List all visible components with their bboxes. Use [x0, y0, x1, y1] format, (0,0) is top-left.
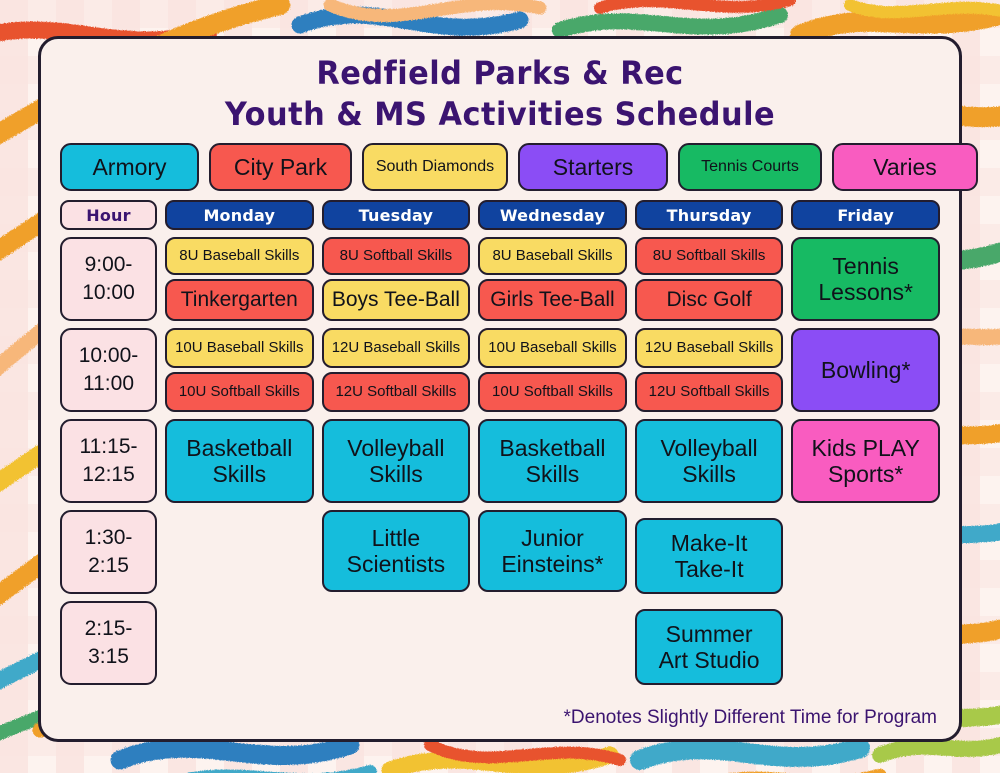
activity-label: 10U Softball Skills — [492, 383, 613, 400]
schedule-row: 2:15-3:15SummerArt Studio — [60, 601, 940, 685]
activity-label: Tennis Lessons* — [796, 253, 935, 306]
schedule-row: 10:00-11:0010U Baseball Skills10U Softba… — [60, 328, 940, 412]
time-slot-line-2: 12:15 — [82, 461, 135, 489]
activity-block[interactable]: 10U Baseball Skills — [165, 328, 314, 368]
day-cell-wednesday: 10U Baseball Skills10U Softball Skills — [478, 328, 627, 412]
activity-block[interactable]: Kids PLAYSports* — [791, 419, 940, 503]
activity-block[interactable]: BasketballSkills — [478, 419, 627, 503]
activity-label: Boys Tee-Ball — [332, 288, 460, 312]
legend-chip-label: South Diamonds — [376, 158, 494, 176]
activity-block[interactable]: VolleyballSkills — [322, 419, 471, 503]
activity-block[interactable]: 8U Softball Skills — [322, 237, 471, 275]
schedule-row: 9:00-10:008U Baseball SkillsTinkergarten… — [60, 237, 940, 321]
activity-label: Girls Tee-Ball — [490, 288, 614, 312]
activity-block[interactable]: 8U Baseball Skills — [165, 237, 314, 275]
day-cell-monday — [165, 601, 314, 685]
day-cell-wednesday: BasketballSkills — [478, 419, 627, 503]
column-header-hour: Hour — [60, 200, 157, 230]
activity-label-line: Junior — [521, 525, 584, 551]
time-slot-cell: 2:15-3:15 — [60, 601, 157, 685]
day-cell-thursday: SummerArt Studio — [635, 601, 784, 685]
day-cell-friday — [791, 510, 940, 594]
activity-label-line: Skills — [212, 461, 266, 487]
activity-label-line: Einsteins* — [501, 551, 603, 577]
day-cell-wednesday — [478, 601, 627, 685]
day-cell-friday: Kids PLAYSports* — [791, 419, 940, 503]
activity-block[interactable]: 12U Softball Skills — [322, 372, 471, 412]
activity-block[interactable]: 10U Baseball Skills — [478, 328, 627, 368]
legend-chip-tennis-courts[interactable]: Tennis Courts — [678, 143, 822, 191]
time-slot-cell: 9:00-10:00 — [60, 237, 157, 321]
activity-label: Tinkergarten — [181, 288, 298, 312]
activity-label: 12U Softball Skills — [335, 383, 456, 400]
activity-label: 12U Baseball Skills — [332, 339, 460, 356]
day-cell-monday: 8U Baseball SkillsTinkergarten — [165, 237, 314, 321]
activity-label-line: Little — [372, 525, 421, 551]
schedule-row: 1:30-2:15LittleScientistsJuniorEinsteins… — [60, 510, 940, 594]
day-cell-tuesday: VolleyballSkills — [322, 419, 471, 503]
activity-label-line: Kids PLAY — [812, 435, 920, 461]
activity-label-line: Basketball — [186, 435, 292, 461]
legend-chip-starters[interactable]: Starters — [518, 143, 668, 191]
activity-block[interactable]: Disc Golf — [635, 279, 784, 321]
activity-label: 8U Baseball Skills — [179, 247, 299, 264]
legend-chip-armory[interactable]: Armory — [60, 143, 199, 191]
time-slot-line-2: 2:15 — [88, 552, 129, 580]
location-legend: ArmoryCity ParkSouth DiamondsStartersTen… — [41, 135, 959, 191]
legend-chip-city-park[interactable]: City Park — [209, 143, 352, 191]
activity-label: 10U Softball Skills — [179, 383, 300, 400]
activity-block[interactable]: 12U Baseball Skills — [635, 328, 784, 368]
page-title-line-1: Redfield Parks & Rec — [64, 53, 936, 93]
activity-block[interactable]: 8U Baseball Skills — [478, 237, 627, 275]
time-slot-cell: 1:30-2:15 — [60, 510, 157, 594]
activity-block[interactable]: 10U Softball Skills — [165, 372, 314, 412]
activity-block[interactable]: 12U Baseball Skills — [322, 328, 471, 368]
activity-block[interactable]: SummerArt Studio — [635, 609, 784, 685]
day-cell-tuesday: LittleScientists — [322, 510, 471, 594]
time-slot-line-1: 2:15- — [85, 615, 133, 643]
activity-label-line: Skills — [526, 461, 580, 487]
time-slot-cell: 10:00-11:00 — [60, 328, 157, 412]
activity-block[interactable]: Bowling* — [791, 328, 940, 412]
activity-block[interactable]: VolleyballSkills — [635, 419, 784, 503]
activity-block[interactable]: Girls Tee-Ball — [478, 279, 627, 321]
title-block: Redfield Parks & Rec Youth & MS Activiti… — [41, 39, 959, 135]
day-cell-tuesday — [322, 601, 471, 685]
day-cell-wednesday: 8U Baseball SkillsGirls Tee-Ball — [478, 237, 627, 321]
column-header-monday: Monday — [165, 200, 314, 230]
activity-label-line: Scientists — [347, 551, 445, 577]
footnote: *Denotes Slightly Different Time for Pro… — [564, 707, 937, 729]
activity-label: 8U Softball Skills — [340, 247, 453, 264]
day-cell-friday — [791, 601, 940, 685]
legend-chip-label: Tennis Courts — [701, 158, 799, 176]
day-cell-thursday: Make-ItTake-It — [635, 510, 784, 594]
legend-chip-label: Armory — [92, 154, 166, 181]
activity-label-line: Summer — [666, 621, 753, 647]
activity-label-line: Skills — [682, 461, 736, 487]
schedule-row: 11:15-12:15BasketballSkillsVolleyballSki… — [60, 419, 940, 503]
activity-block[interactable]: BasketballSkills — [165, 419, 314, 503]
activity-label: Bowling* — [821, 357, 911, 383]
column-header-friday: Friday — [791, 200, 940, 230]
activity-label-line: Basketball — [499, 435, 605, 461]
time-slot-line-1: 11:15- — [80, 433, 138, 461]
activity-label: 10U Baseball Skills — [175, 339, 303, 356]
legend-chip-label: Varies — [873, 154, 937, 181]
activity-block[interactable]: Make-ItTake-It — [635, 518, 784, 594]
column-header-wednesday: Wednesday — [478, 200, 627, 230]
activity-block[interactable]: Boys Tee-Ball — [322, 279, 471, 321]
activity-label: 12U Baseball Skills — [645, 339, 773, 356]
time-slot-cell: 11:15-12:15 — [60, 419, 157, 503]
activity-label-line: Sports* — [828, 461, 903, 487]
day-cell-thursday: 12U Baseball Skills12U Softball Skills — [635, 328, 784, 412]
legend-chip-label: City Park — [234, 154, 327, 181]
page-title-line-2: Youth & MS Activities Schedule — [64, 93, 936, 135]
activity-label: 12U Softball Skills — [649, 383, 770, 400]
time-slot-line-2: 3:15 — [88, 643, 129, 671]
activity-label-line: Make-It — [671, 530, 748, 556]
time-slot-line-1: 1:30- — [85, 524, 133, 552]
activity-block[interactable]: Tennis Lessons* — [791, 237, 940, 321]
schedule-body: 9:00-10:008U Baseball SkillsTinkergarten… — [60, 237, 940, 685]
day-cell-tuesday: 8U Softball SkillsBoys Tee-Ball — [322, 237, 471, 321]
day-cell-monday — [165, 510, 314, 594]
column-header-tuesday: Tuesday — [322, 200, 471, 230]
activity-block[interactable]: Tinkergarten — [165, 279, 314, 321]
day-cell-wednesday: JuniorEinsteins* — [478, 510, 627, 594]
day-cell-friday: Bowling* — [791, 328, 940, 412]
legend-chip-label: Starters — [553, 154, 634, 181]
activity-block[interactable]: 12U Softball Skills — [635, 372, 784, 412]
time-slot-line-1: 10:00- — [79, 342, 139, 370]
day-cell-monday: BasketballSkills — [165, 419, 314, 503]
day-cell-monday: 10U Baseball Skills10U Softball Skills — [165, 328, 314, 412]
activity-label: 8U Softball Skills — [653, 247, 766, 264]
schedule-card: Redfield Parks & Rec Youth & MS Activiti… — [38, 36, 962, 742]
activity-label: Disc Golf — [666, 288, 751, 312]
day-cell-thursday: 8U Softball SkillsDisc Golf — [635, 237, 784, 321]
schedule-grid: HourMondayTuesdayWednesdayThursdayFriday… — [41, 191, 959, 685]
schedule-header-row: HourMondayTuesdayWednesdayThursdayFriday — [60, 200, 940, 230]
time-slot-line-1: 9:00- — [85, 251, 133, 279]
day-cell-thursday: VolleyballSkills — [635, 419, 784, 503]
legend-chip-south-diamonds[interactable]: South Diamonds — [362, 143, 508, 191]
activity-label-line: Take-It — [675, 556, 744, 582]
activity-label-line: Volleyball — [660, 435, 757, 461]
activity-block[interactable]: JuniorEinsteins* — [478, 510, 627, 592]
time-slot-line-2: 11:00 — [83, 370, 134, 398]
day-cell-tuesday: 12U Baseball Skills12U Softball Skills — [322, 328, 471, 412]
legend-chip-varies[interactable]: Varies — [832, 143, 978, 191]
activity-label: 8U Baseball Skills — [492, 247, 612, 264]
activity-label-line: Art Studio — [659, 647, 760, 673]
activity-label-line: Skills — [369, 461, 423, 487]
activity-label-line: Volleyball — [347, 435, 444, 461]
day-cell-friday: Tennis Lessons* — [791, 237, 940, 321]
activity-block[interactable]: 8U Softball Skills — [635, 237, 784, 275]
column-header-thursday: Thursday — [635, 200, 784, 230]
activity-block[interactable]: 10U Softball Skills — [478, 372, 627, 412]
activity-block[interactable]: LittleScientists — [322, 510, 471, 592]
activity-label: 10U Baseball Skills — [488, 339, 616, 356]
time-slot-line-2: 10:00 — [82, 279, 135, 307]
